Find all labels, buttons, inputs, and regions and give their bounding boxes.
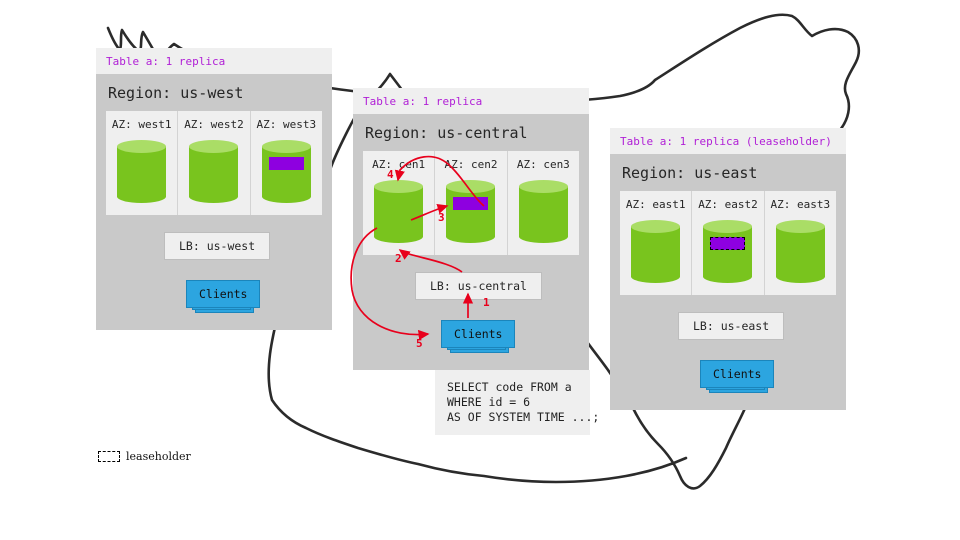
node-cylinder-icon [776, 220, 825, 283]
region-title-us-west: Table a: 1 replica [96, 48, 332, 74]
clients-us-east[interactable]: Clients [700, 360, 774, 388]
sql-query-box: SELECT code FROM a WHERE id = 6 AS OF SY… [435, 370, 590, 435]
az-cen2[interactable]: AZ: cen2 [435, 151, 507, 255]
az-east2[interactable]: AZ: east2 [692, 191, 764, 295]
replica-marker-leaseholder [710, 237, 745, 250]
replica-marker [269, 157, 304, 170]
clients-label: Clients [441, 320, 515, 348]
load-balancer-us-west[interactable]: LB: us-west [164, 232, 270, 260]
clients-label: Clients [186, 280, 260, 308]
node-cylinder-icon [519, 180, 568, 243]
az-east1[interactable]: AZ: east1 [620, 191, 692, 295]
load-balancer-us-central[interactable]: LB: us-central [415, 272, 542, 300]
az-label: AZ: cen1 [372, 158, 425, 171]
arrow-label-3: 3 [438, 211, 445, 224]
region-name-us-east: Region: us-east [610, 154, 846, 191]
az-label: AZ: cen3 [517, 158, 570, 171]
az-label: AZ: east3 [771, 198, 831, 211]
az-row-us-west: AZ: west1 AZ: west2 AZ: west3 [106, 111, 322, 215]
az-label: AZ: west1 [112, 118, 172, 131]
replica-marker [453, 197, 488, 210]
arrow-label-4: 4 [387, 168, 394, 181]
node-cylinder-icon [374, 180, 423, 243]
node-cylinder-icon [117, 140, 166, 203]
clients-us-west[interactable]: Clients [186, 280, 260, 308]
az-label: AZ: west3 [257, 118, 317, 131]
az-west1[interactable]: AZ: west1 [106, 111, 178, 215]
az-west2[interactable]: AZ: west2 [178, 111, 250, 215]
legend: leaseholder [98, 450, 191, 463]
arrow-label-5: 5 [416, 337, 423, 350]
node-cylinder-icon [703, 220, 752, 283]
region-name-us-central: Region: us-central [353, 114, 589, 151]
az-cen3[interactable]: AZ: cen3 [508, 151, 579, 255]
arrow-label-1: 1 [483, 296, 490, 309]
az-label: AZ: cen2 [445, 158, 498, 171]
clients-label: Clients [700, 360, 774, 388]
az-cen1[interactable]: AZ: cen1 [363, 151, 435, 255]
node-cylinder-icon [262, 140, 311, 203]
az-east3[interactable]: AZ: east3 [765, 191, 836, 295]
az-row-us-east: AZ: east1 AZ: east2 AZ: east3 [620, 191, 836, 295]
az-label: AZ: east2 [698, 198, 758, 211]
node-cylinder-icon [631, 220, 680, 283]
region-name-us-west: Region: us-west [96, 74, 332, 111]
az-label: AZ: west2 [184, 118, 244, 131]
leaseholder-swatch-icon [98, 451, 120, 462]
legend-label: leaseholder [126, 450, 191, 463]
region-title-us-central: Table a: 1 replica [353, 88, 589, 114]
region-title-us-east: Table a: 1 replica (leaseholder) [610, 128, 846, 154]
load-balancer-us-east[interactable]: LB: us-east [678, 312, 784, 340]
node-cylinder-icon [446, 180, 495, 243]
node-cylinder-icon [189, 140, 238, 203]
arrow-label-2: 2 [395, 252, 402, 265]
az-west3[interactable]: AZ: west3 [251, 111, 322, 215]
az-row-us-central: AZ: cen1 AZ: cen2 AZ: cen3 [363, 151, 579, 255]
clients-us-central[interactable]: Clients [441, 320, 515, 348]
az-label: AZ: east1 [626, 198, 686, 211]
